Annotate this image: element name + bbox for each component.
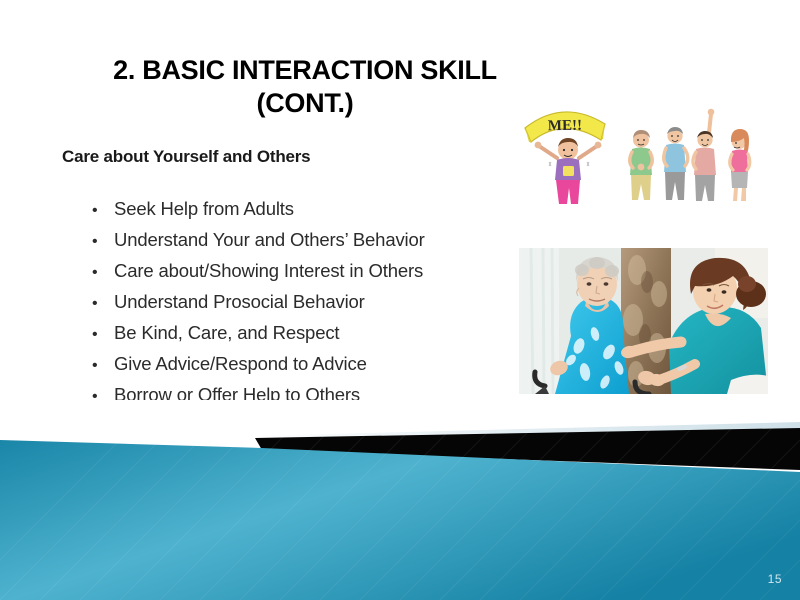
caregiver-helping-elderly-woman-photo xyxy=(519,248,768,394)
list-item-label: Understand Your and Others’ Behavior xyxy=(114,229,425,251)
list-item: • Understand Prosocial Behavior xyxy=(92,291,425,322)
list-item-label: Seek Help from Adults xyxy=(114,198,294,220)
bullet-marker-icon: • xyxy=(92,265,114,281)
caregiver-photo-svg xyxy=(519,248,768,394)
footer-wedges-svg xyxy=(0,400,800,600)
list-item: • Be Kind, Care, and Respect xyxy=(92,322,425,353)
list-item: • Seek Help from Adults xyxy=(92,198,425,229)
bullet-marker-icon: • xyxy=(92,358,114,374)
cartoon-me-banner-and-group-illustration: ME!! xyxy=(519,100,769,204)
list-item-label: Care about/Showing Interest in Others xyxy=(114,260,423,282)
title-line-2: (CONT.) xyxy=(60,87,550,120)
bullet-marker-icon: • xyxy=(92,203,114,219)
list-item-label: Understand Prosocial Behavior xyxy=(114,291,365,313)
list-item-label: Give Advice/Respond to Advice xyxy=(114,353,367,375)
list-item: • Give Advice/Respond to Advice xyxy=(92,353,425,384)
svg-text:ME!!: ME!! xyxy=(548,118,582,135)
bullet-marker-icon: • xyxy=(92,327,114,343)
bullet-marker-icon: • xyxy=(92,234,114,250)
slide-footer-decoration xyxy=(0,400,800,600)
slide-number: 15 xyxy=(768,572,782,586)
list-item: • Understand Your and Others’ Behavior xyxy=(92,229,425,260)
list-item: • Care about/Showing Interest in Others xyxy=(92,260,425,291)
presentation-slide: 2. BASIC INTERACTION SKILL (CONT.) Care … xyxy=(0,0,800,600)
section-subheading: Care about Yourself and Others xyxy=(62,147,310,167)
page-title: 2. BASIC INTERACTION SKILL (CONT.) xyxy=(60,54,550,120)
list-item-label: Be Kind, Care, and Respect xyxy=(114,322,339,344)
bullet-marker-icon: • xyxy=(92,296,114,312)
title-line-1: 2. BASIC INTERACTION SKILL xyxy=(113,55,497,85)
cartoon-illustration-svg: ME!! xyxy=(519,100,769,204)
